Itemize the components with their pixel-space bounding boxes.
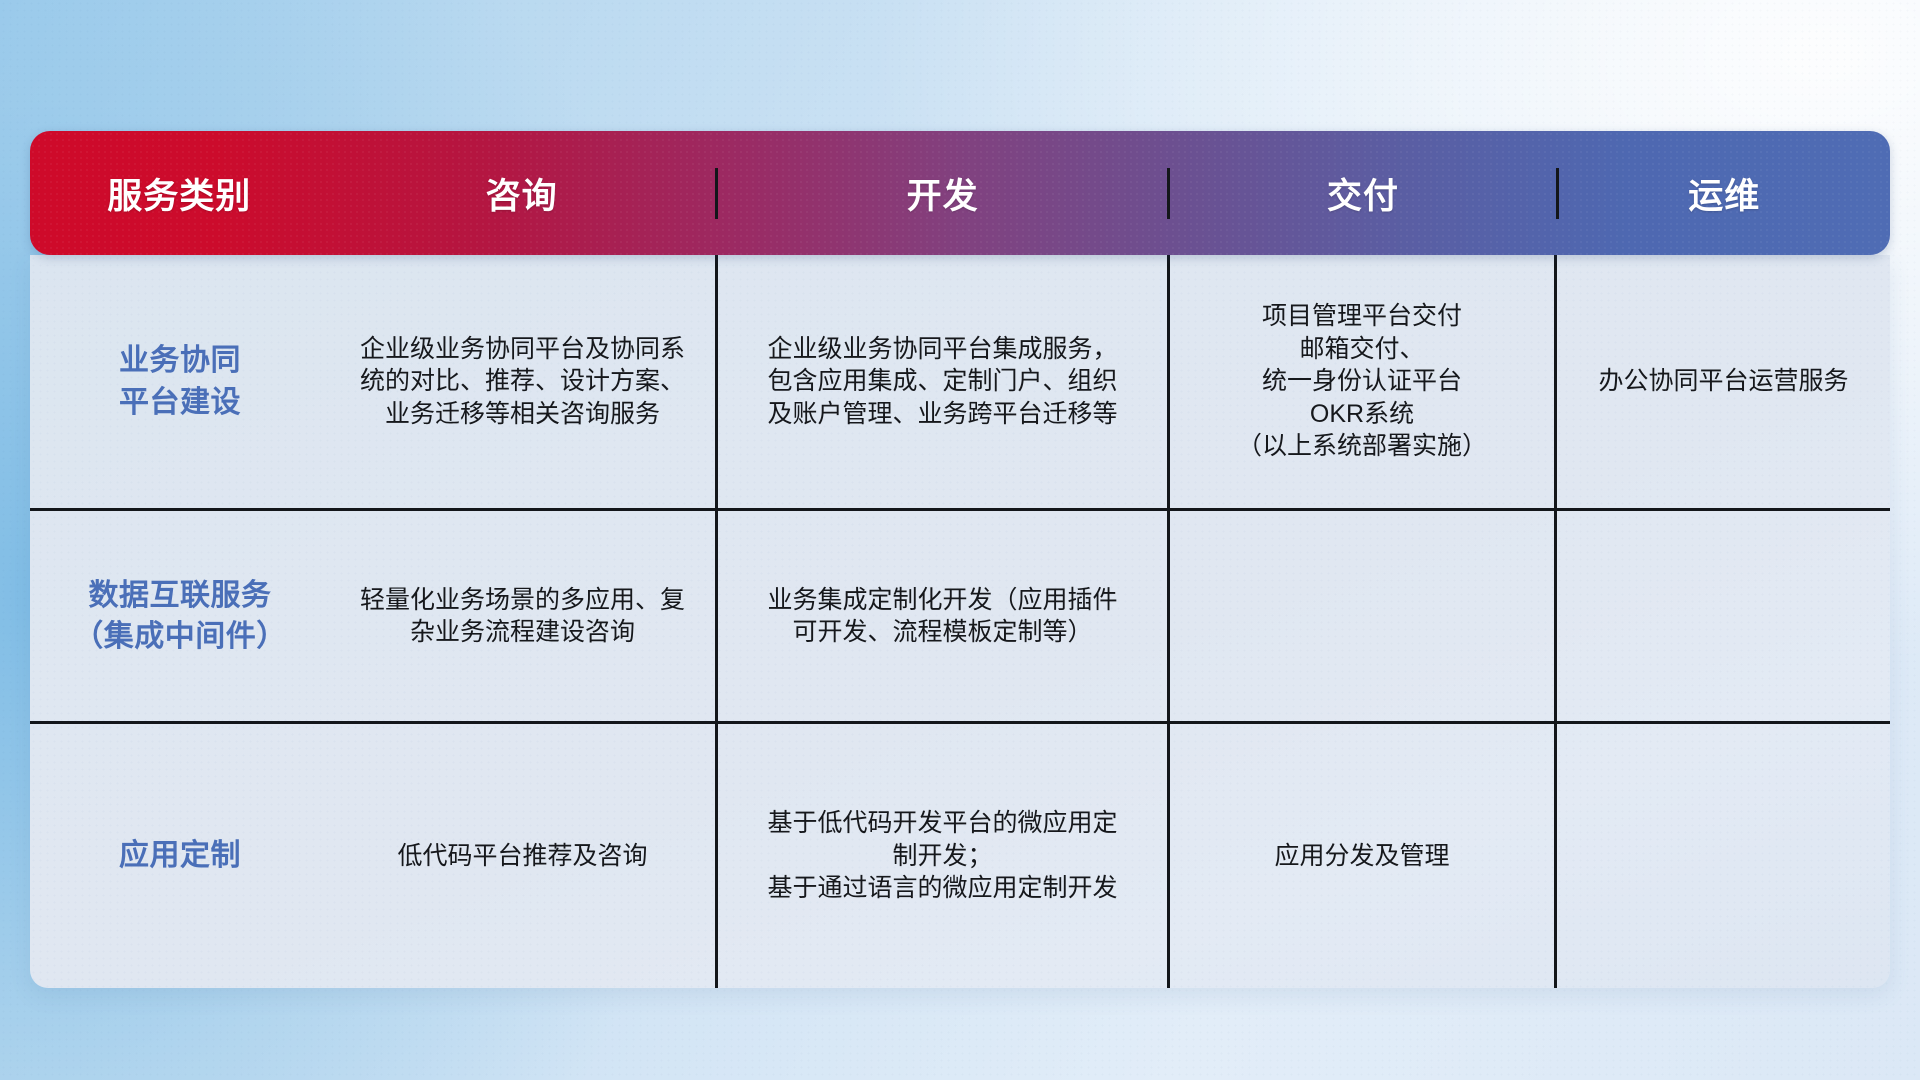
table-body: 业务协同 平台建设 企业级业务协同平台及协同系 统的对比、推荐、设计方案、 业务… bbox=[30, 255, 1890, 988]
row-category-label: 业务协同 平台建设 bbox=[30, 255, 330, 508]
column-header-consulting: 咨询 bbox=[329, 168, 718, 219]
cell-consulting: 低代码平台推荐及咨询 bbox=[330, 724, 718, 988]
table-header-row: 服务类别 咨询 开发 交付 运维 bbox=[30, 131, 1890, 255]
column-header-development: 开发 bbox=[718, 168, 1171, 219]
column-header-delivery: 交付 bbox=[1170, 168, 1558, 219]
cell-development: 基于低代码开发平台的微应用定 制开发； 基于通过语言的微应用定制开发 bbox=[718, 724, 1170, 988]
table-row: 应用定制 低代码平台推荐及咨询 基于低代码开发平台的微应用定 制开发； 基于通过… bbox=[30, 721, 1890, 988]
cell-development: 业务集成定制化开发（应用插件 可开发、流程模板定制等） bbox=[718, 511, 1170, 721]
page-root: 服务类别 咨询 开发 交付 运维 业务协同 平台建设 企业级业务协同平台及协同系… bbox=[0, 0, 1920, 1080]
table-row: 业务协同 平台建设 企业级业务协同平台及协同系 统的对比、推荐、设计方案、 业务… bbox=[30, 255, 1890, 508]
cell-operations bbox=[1557, 724, 1890, 988]
row-category-label: 应用定制 bbox=[30, 724, 330, 988]
cell-consulting: 轻量化业务场景的多应用、复 杂业务流程建设咨询 bbox=[330, 511, 718, 721]
cell-operations: 办公协同平台运营服务 bbox=[1557, 255, 1890, 508]
cell-delivery: 项目管理平台交付 邮箱交付、 统一身份认证平台 OKR系统 （以上系统部署实施） bbox=[1170, 255, 1557, 508]
table-row: 数据互联服务 （集成中间件） 轻量化业务场景的多应用、复 杂业务流程建设咨询 业… bbox=[30, 508, 1890, 721]
column-header-service-category: 服务类别 bbox=[30, 168, 329, 219]
column-header-operations: 运维 bbox=[1559, 168, 1890, 219]
cell-operations bbox=[1557, 511, 1890, 721]
row-category-label: 数据互联服务 （集成中间件） bbox=[30, 511, 330, 721]
cell-delivery bbox=[1170, 511, 1557, 721]
cell-delivery: 应用分发及管理 bbox=[1170, 724, 1557, 988]
cell-development: 企业级业务协同平台集成服务， 包含应用集成、定制门户、组织 及账户管理、业务跨平… bbox=[718, 255, 1170, 508]
services-matrix-table: 服务类别 咨询 开发 交付 运维 业务协同 平台建设 企业级业务协同平台及协同系… bbox=[30, 131, 1890, 988]
cell-consulting: 企业级业务协同平台及协同系 统的对比、推荐、设计方案、 业务迁移等相关咨询服务 bbox=[330, 255, 718, 508]
